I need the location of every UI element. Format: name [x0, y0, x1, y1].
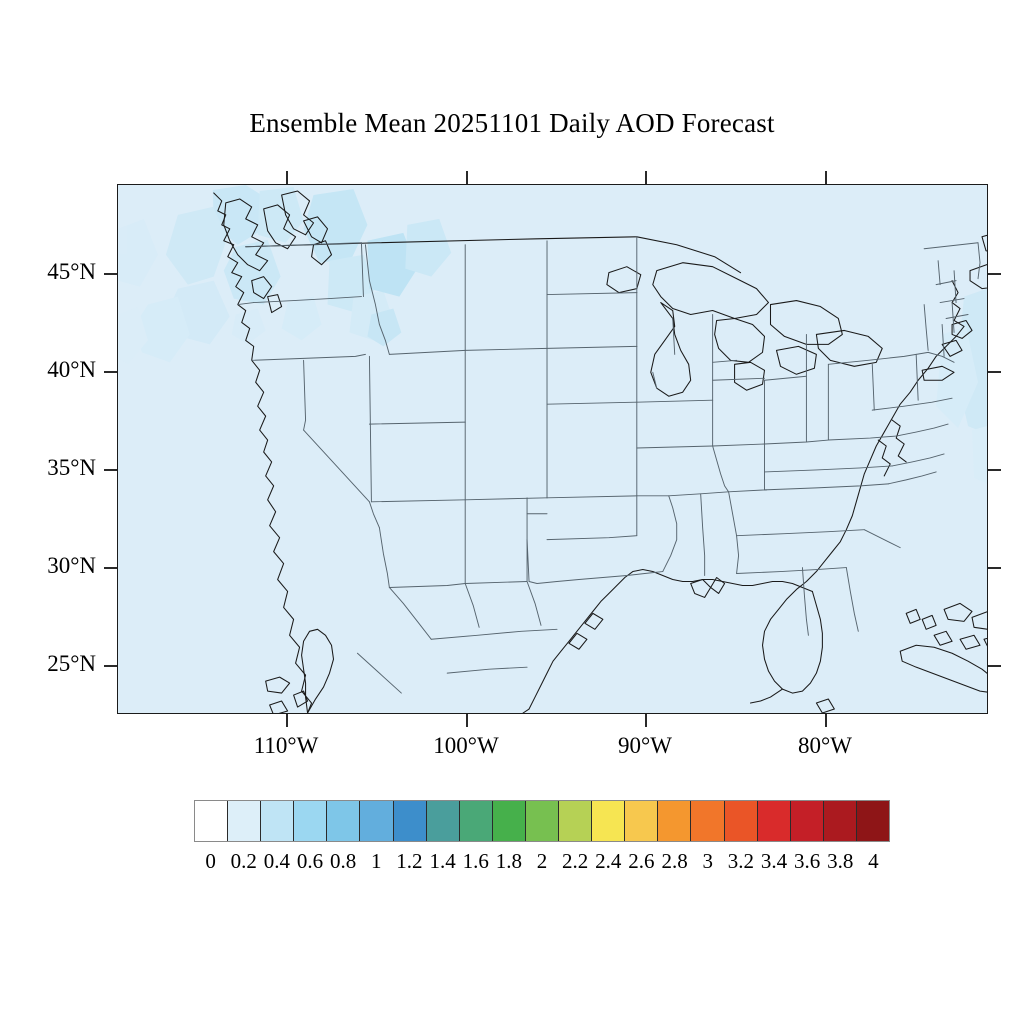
colorbar-swatch-13[interactable]: [625, 801, 658, 841]
lat-label-45: 45°N: [0, 259, 96, 285]
lon-tick-80: [825, 714, 827, 727]
lon-tick-top-80: [825, 171, 827, 184]
lat-label-30: 30°N: [0, 553, 96, 579]
colorbar-swatch-16[interactable]: [725, 801, 758, 841]
colorbar-swatch-8[interactable]: [460, 801, 493, 841]
lat-tick-40: [104, 371, 117, 373]
lat-tick-30: [104, 567, 117, 569]
colorbar-swatch-20[interactable]: [857, 801, 889, 841]
lat-tick-25: [104, 665, 117, 667]
colorbar[interactable]: [194, 800, 890, 842]
lon-tick-110: [286, 714, 288, 727]
lat-label-35: 35°N: [0, 455, 96, 481]
colorbar-tick-label-7: 1.4: [429, 849, 455, 874]
colorbar-swatch-7[interactable]: [427, 801, 460, 841]
colorbar-tick-label-1: 0.2: [231, 849, 257, 874]
colorbar-swatch-5[interactable]: [360, 801, 393, 841]
colorbar-swatch-2[interactable]: [261, 801, 294, 841]
lat-label-25: 25°N: [0, 651, 96, 677]
page-title: Ensemble Mean 20251101 Daily AOD Forecas…: [0, 108, 1024, 139]
colorbar-swatch-14[interactable]: [658, 801, 691, 841]
colorbar-tick-label-13: 2.6: [628, 849, 654, 874]
colorbar-tick-label-2: 0.4: [264, 849, 290, 874]
colorbar-tick-label-9: 1.8: [496, 849, 522, 874]
colorbar-tick-label-18: 3.6: [794, 849, 820, 874]
colorbar-tick-label-3: 0.6: [297, 849, 323, 874]
colorbar-swatch-1[interactable]: [228, 801, 261, 841]
colorbar-swatch-4[interactable]: [327, 801, 360, 841]
colorbar-swatch-18[interactable]: [791, 801, 824, 841]
lat-tick-45: [104, 273, 117, 275]
colorbar-swatch-3[interactable]: [294, 801, 327, 841]
colorbar-tick-label-14: 2.8: [661, 849, 687, 874]
colorbar-swatch-19[interactable]: [824, 801, 857, 841]
lon-tick-top-110: [286, 171, 288, 184]
map-panel[interactable]: [117, 184, 988, 714]
map-canvas: [118, 185, 987, 713]
lon-tick-100: [466, 714, 468, 727]
colorbar-tick-label-20: 4: [868, 849, 879, 874]
lat-tick-right-35: [988, 469, 1001, 471]
colorbar-tick-label-5: 1: [371, 849, 382, 874]
colorbar-swatch-9[interactable]: [493, 801, 526, 841]
lon-label-110: 110°W: [206, 733, 366, 759]
lon-tick-top-90: [645, 171, 647, 184]
lat-tick-right-30: [988, 567, 1001, 569]
colorbar-swatch-6[interactable]: [394, 801, 427, 841]
colorbar-tick-label-17: 3.4: [761, 849, 787, 874]
colorbar-tick-label-15: 3: [702, 849, 713, 874]
colorbar-tick-label-0: 0: [205, 849, 216, 874]
colorbar-tick-label-10: 2: [537, 849, 548, 874]
colorbar-swatch-10[interactable]: [526, 801, 559, 841]
lat-tick-right-45: [988, 273, 1001, 275]
lon-label-100: 100°W: [386, 733, 546, 759]
colorbar-tick-label-6: 1.2: [396, 849, 422, 874]
lon-tick-90: [645, 714, 647, 727]
lon-label-90: 90°W: [565, 733, 725, 759]
lat-label-40: 40°N: [0, 357, 96, 383]
colorbar-swatch-17[interactable]: [758, 801, 791, 841]
colorbar-tick-label-19: 3.8: [827, 849, 853, 874]
lat-tick-right-25: [988, 665, 1001, 667]
colorbar-swatch-15[interactable]: [691, 801, 724, 841]
aod-forecast-figure: Ensemble Mean 20251101 Daily AOD Forecas…: [0, 0, 1024, 1024]
colorbar-tick-label-11: 2.2: [562, 849, 588, 874]
colorbar-labels: 00.20.40.60.811.21.41.61.822.22.42.62.83…: [194, 849, 890, 879]
colorbar-tick-label-16: 3.2: [728, 849, 754, 874]
colorbar-swatch-0[interactable]: [195, 801, 228, 841]
colorbar-swatch-11[interactable]: [559, 801, 592, 841]
lat-tick-right-40: [988, 371, 1001, 373]
lon-tick-top-100: [466, 171, 468, 184]
colorbar-swatch-12[interactable]: [592, 801, 625, 841]
colorbar-tick-label-8: 1.6: [463, 849, 489, 874]
lon-label-80: 80°W: [745, 733, 905, 759]
lat-tick-35: [104, 469, 117, 471]
colorbar-tick-label-4: 0.8: [330, 849, 356, 874]
colorbar-tick-label-12: 2.4: [595, 849, 621, 874]
